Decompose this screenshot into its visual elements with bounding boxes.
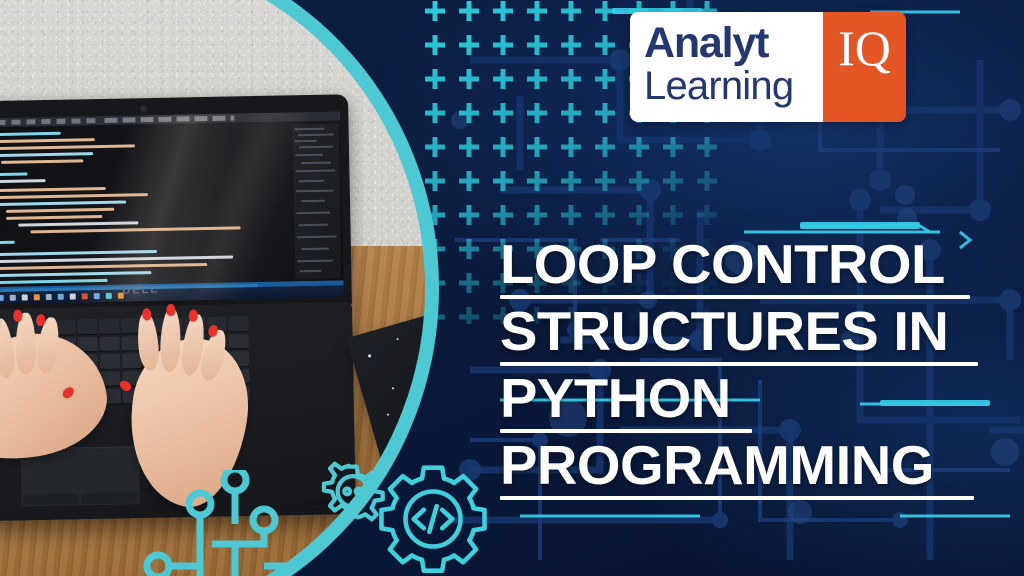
laptop-lid: DELL (0, 94, 352, 313)
title-line-2: STRUCTURES IN (500, 303, 984, 366)
title-line-4-text: PROGRAMMING (500, 437, 994, 494)
title-line-3: PYTHON (500, 370, 984, 433)
page-title: LOOP CONTROL STRUCTURES IN PYTHON PROGRA… (500, 236, 984, 504)
laptop-brand-label: DELL (110, 283, 170, 299)
title-line-4: PROGRAMMING (500, 437, 984, 500)
gear-code-icon (378, 462, 488, 576)
title-line-1: LOOP CONTROL (500, 236, 984, 299)
logo-word-learning: Learning (644, 64, 823, 108)
code-editor-content (0, 124, 260, 288)
brand-logo[interactable]: Analyt Learning IQ (630, 12, 906, 122)
gear-plain-icon (312, 460, 388, 536)
title-underline-2 (500, 362, 978, 366)
logo-text-panel: Analyt Learning (630, 12, 823, 122)
title-line-3-text: PYTHON (500, 370, 994, 427)
logo-word-analyt: Analyt (644, 21, 823, 66)
webcam-icon (139, 104, 148, 113)
window-title-text (104, 115, 234, 122)
title-underline-1 (500, 295, 970, 299)
logo-badge-panel: IQ (823, 12, 906, 122)
editor-minimap (292, 123, 341, 279)
title-line-1-text: LOOP CONTROL (500, 236, 994, 293)
slide-canvas: DELL (0, 0, 1024, 576)
menubar-items (0, 118, 96, 125)
title-underline-3 (500, 429, 752, 433)
circuit-trace-decoration (140, 470, 330, 576)
title-underline-4 (500, 496, 974, 500)
laptop-screen (0, 111, 344, 304)
logo-badge-iq: IQ (838, 23, 891, 73)
title-line-2-text: STRUCTURES IN (500, 303, 994, 360)
